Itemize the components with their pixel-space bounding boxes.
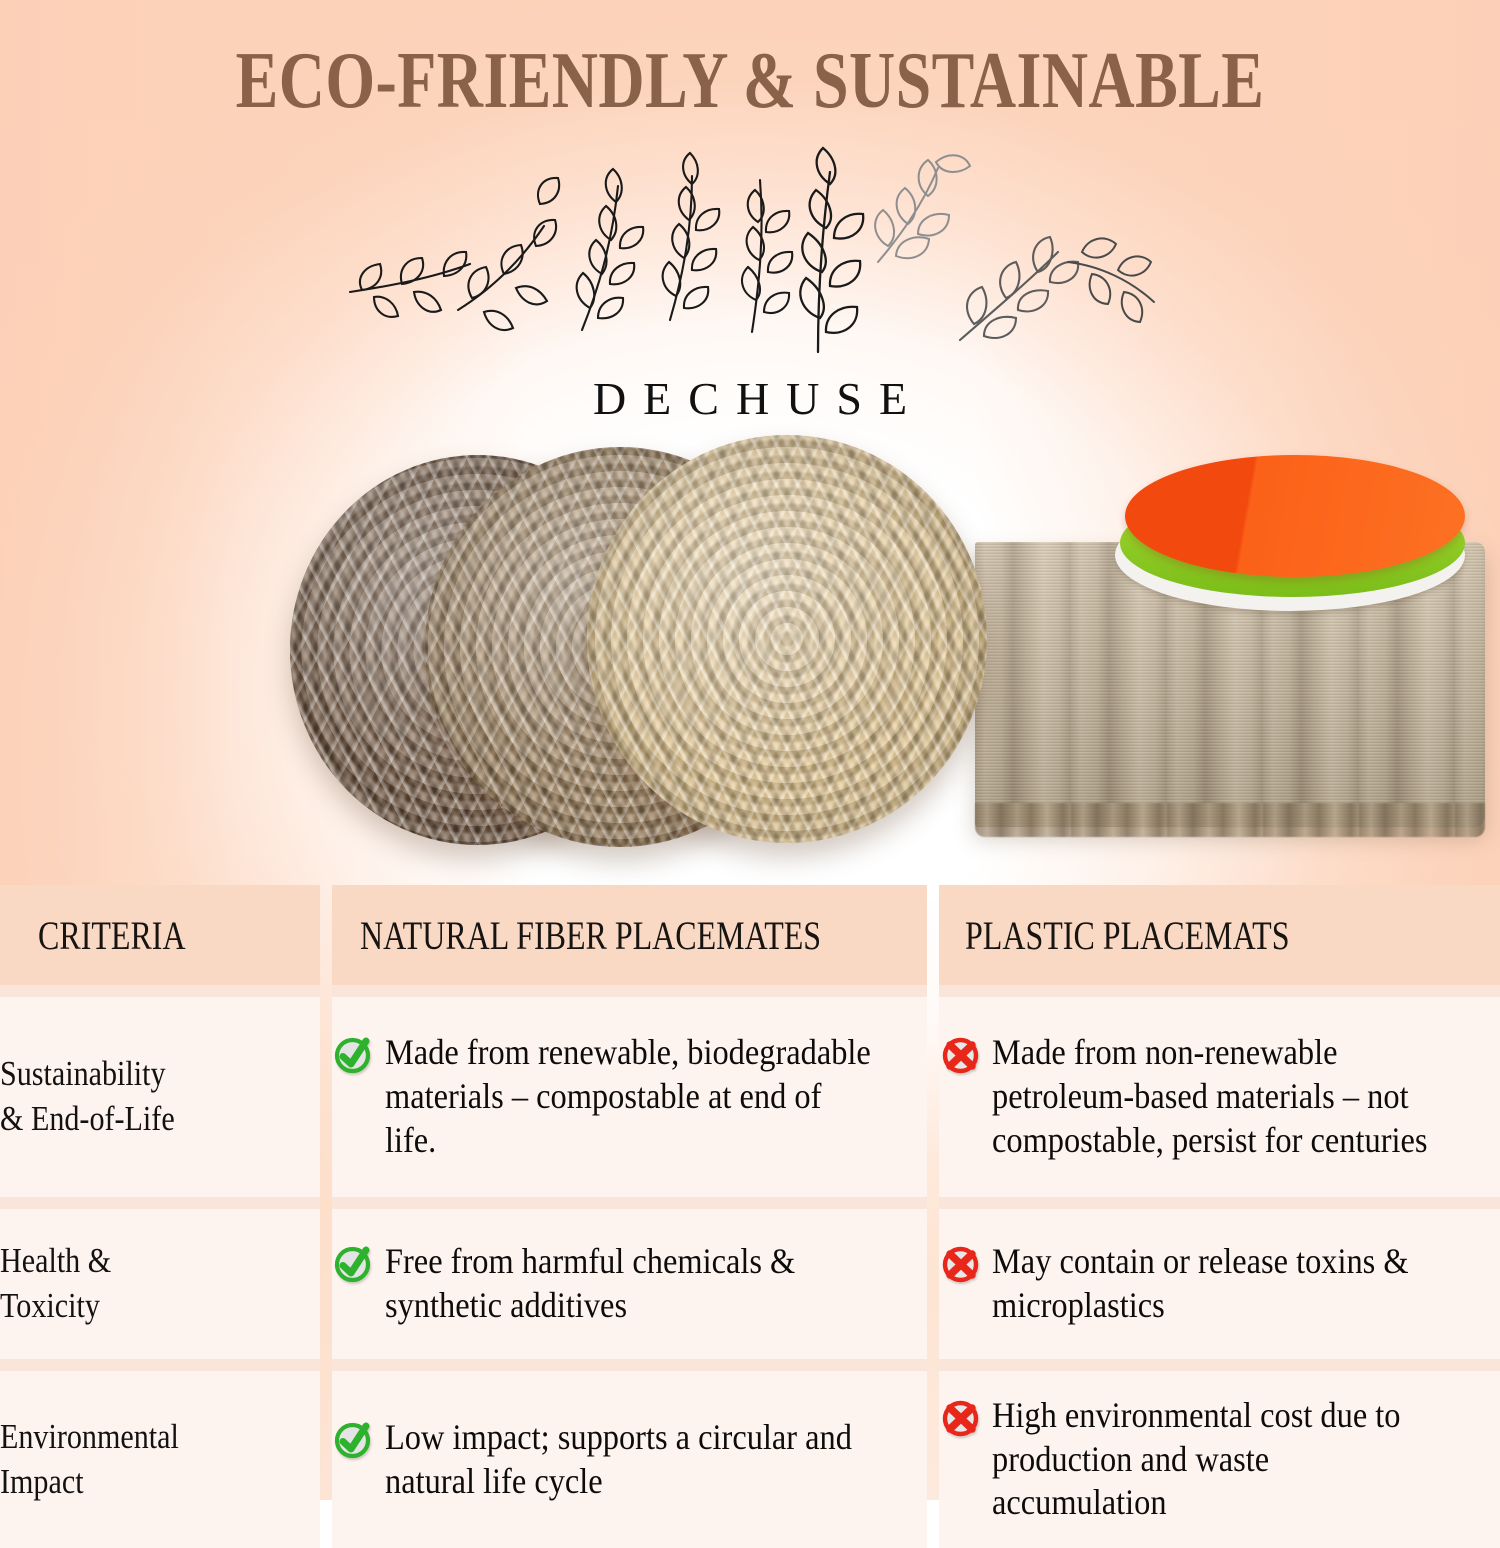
page-title: ECO-FRIENDLY & SUSTAINABLE	[150, 36, 1350, 127]
botanical-leaves-wreath-icon	[340, 140, 1160, 390]
cross-circle-icon	[939, 1242, 983, 1286]
vinyl-placemat-stack-image	[975, 455, 1485, 845]
claim-text: Low impact; supports a circular and natu…	[385, 1416, 873, 1504]
criteria-line: Environmental	[0, 1415, 179, 1460]
claim-negative: Made from non-renewable petroleum-based …	[939, 1031, 1500, 1163]
plastic-cell: May contain or release toxins & micropla…	[939, 1209, 1500, 1359]
criteria-line: Sustainability	[0, 1052, 175, 1097]
check-circle-icon	[332, 1242, 376, 1286]
header-label-plastic: PLASTIC PLACEMATS	[965, 912, 1290, 959]
criteria-line: Toxicity	[0, 1284, 111, 1329]
comparison-table: CRITERIA NATURAL FIBER PLACEMATES PLASTI…	[0, 885, 1500, 1500]
row-separator	[0, 985, 1500, 997]
claim-text: Made from renewable, biodegradable mater…	[385, 1031, 873, 1163]
cross-circle-icon	[939, 1033, 983, 1077]
header-label-natural: NATURAL FIBER PLACEMATES	[360, 912, 821, 959]
table-row: Health & Toxicity Free from harmful chem…	[0, 1209, 1500, 1359]
claim-negative: May contain or release toxins & micropla…	[939, 1240, 1500, 1328]
claim-text: Made from non-renewable petroleum-based …	[992, 1031, 1449, 1163]
row-separator	[0, 1359, 1500, 1371]
table-row: Sustainability & End-of-Life Made from r…	[0, 997, 1500, 1197]
header-label-criteria: CRITERIA	[38, 912, 186, 959]
header-cell-criteria: CRITERIA	[0, 885, 320, 985]
woven-placemat-natural-straw	[587, 435, 987, 843]
claim-text: May contain or release toxins & micropla…	[992, 1240, 1449, 1328]
claim-text: High environmental cost due to productio…	[992, 1394, 1449, 1526]
natural-fiber-cell: Low impact; supports a circular and natu…	[332, 1371, 927, 1548]
claim-positive: Free from harmful chemicals & synthetic …	[332, 1240, 927, 1328]
claim-positive: Made from renewable, biodegradable mater…	[332, 1031, 927, 1163]
claim-positive: Low impact; supports a circular and natu…	[332, 1416, 927, 1504]
criteria-line: Impact	[0, 1460, 179, 1505]
check-circle-icon	[332, 1033, 376, 1077]
criteria-cell: Sustainability & End-of-Life	[0, 997, 320, 1197]
criteria-label: Health & Toxicity	[0, 1239, 111, 1329]
criteria-cell: Environmental Impact	[0, 1371, 320, 1548]
table-row: Environmental Impact Low impact; support…	[0, 1371, 1500, 1548]
cross-circle-icon	[939, 1396, 983, 1440]
table-header-row: CRITERIA NATURAL FIBER PLACEMATES PLASTI…	[0, 885, 1500, 985]
criteria-line: & End-of-Life	[0, 1097, 175, 1142]
check-circle-icon	[332, 1418, 376, 1462]
header-cell-natural: NATURAL FIBER PLACEMATES	[332, 885, 927, 985]
criteria-cell: Health & Toxicity	[0, 1209, 320, 1359]
criteria-line: Health &	[0, 1239, 111, 1284]
criteria-label: Environmental Impact	[0, 1415, 179, 1505]
brand-wordmark: DECHUSE	[340, 372, 1160, 425]
row-separator	[0, 1197, 1500, 1209]
natural-fiber-cell: Made from renewable, biodegradable mater…	[332, 997, 927, 1197]
brand-logo: DECHUSE	[340, 140, 1160, 425]
natural-fiber-cell: Free from harmful chemicals & synthetic …	[332, 1209, 927, 1359]
plastic-cell: Made from non-renewable petroleum-based …	[939, 997, 1500, 1197]
product-showcase	[0, 425, 1500, 865]
orange-plate	[1125, 455, 1465, 577]
woven-round-placemats-image	[290, 435, 990, 855]
criteria-label: Sustainability & End-of-Life	[0, 1052, 175, 1142]
claim-text: Free from harmful chemicals & synthetic …	[385, 1240, 873, 1328]
plastic-cell: High environmental cost due to productio…	[939, 1371, 1500, 1548]
claim-negative: High environmental cost due to productio…	[939, 1394, 1500, 1526]
infographic-page: ECO-FRIENDLY & SUSTAINABLE	[0, 0, 1500, 1500]
header-cell-plastic: PLASTIC PLACEMATS	[939, 885, 1500, 985]
